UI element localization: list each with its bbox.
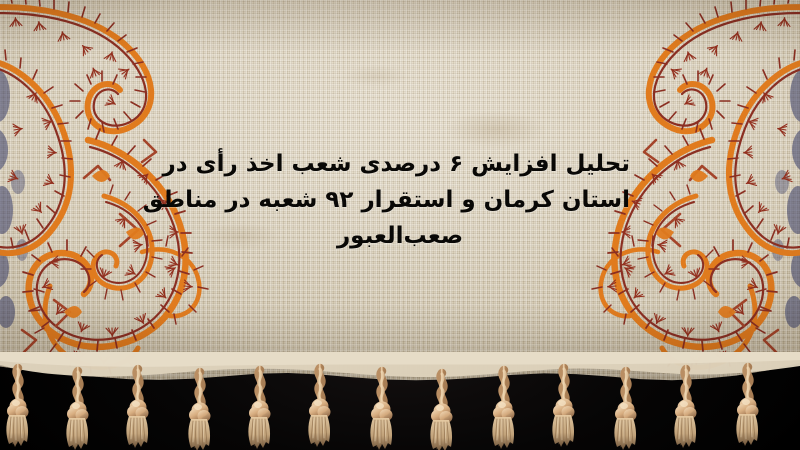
headline-text: تحلیل افزایش ۶ درصدی شعب اخذ رأی در استا… [170, 146, 630, 254]
headline-line-1: تحلیل افزایش ۶ درصدی شعب اخذ رأی در [170, 146, 630, 182]
headline-line-2: استان کرمان و استقرار ۹۲ شعبه در مناطق [170, 182, 630, 218]
screenshot-canvas: تحلیل افزایش ۶ درصدی شعب اخذ رأی در استا… [0, 0, 800, 450]
headline-line-3: صعب‌العبور [170, 218, 630, 254]
